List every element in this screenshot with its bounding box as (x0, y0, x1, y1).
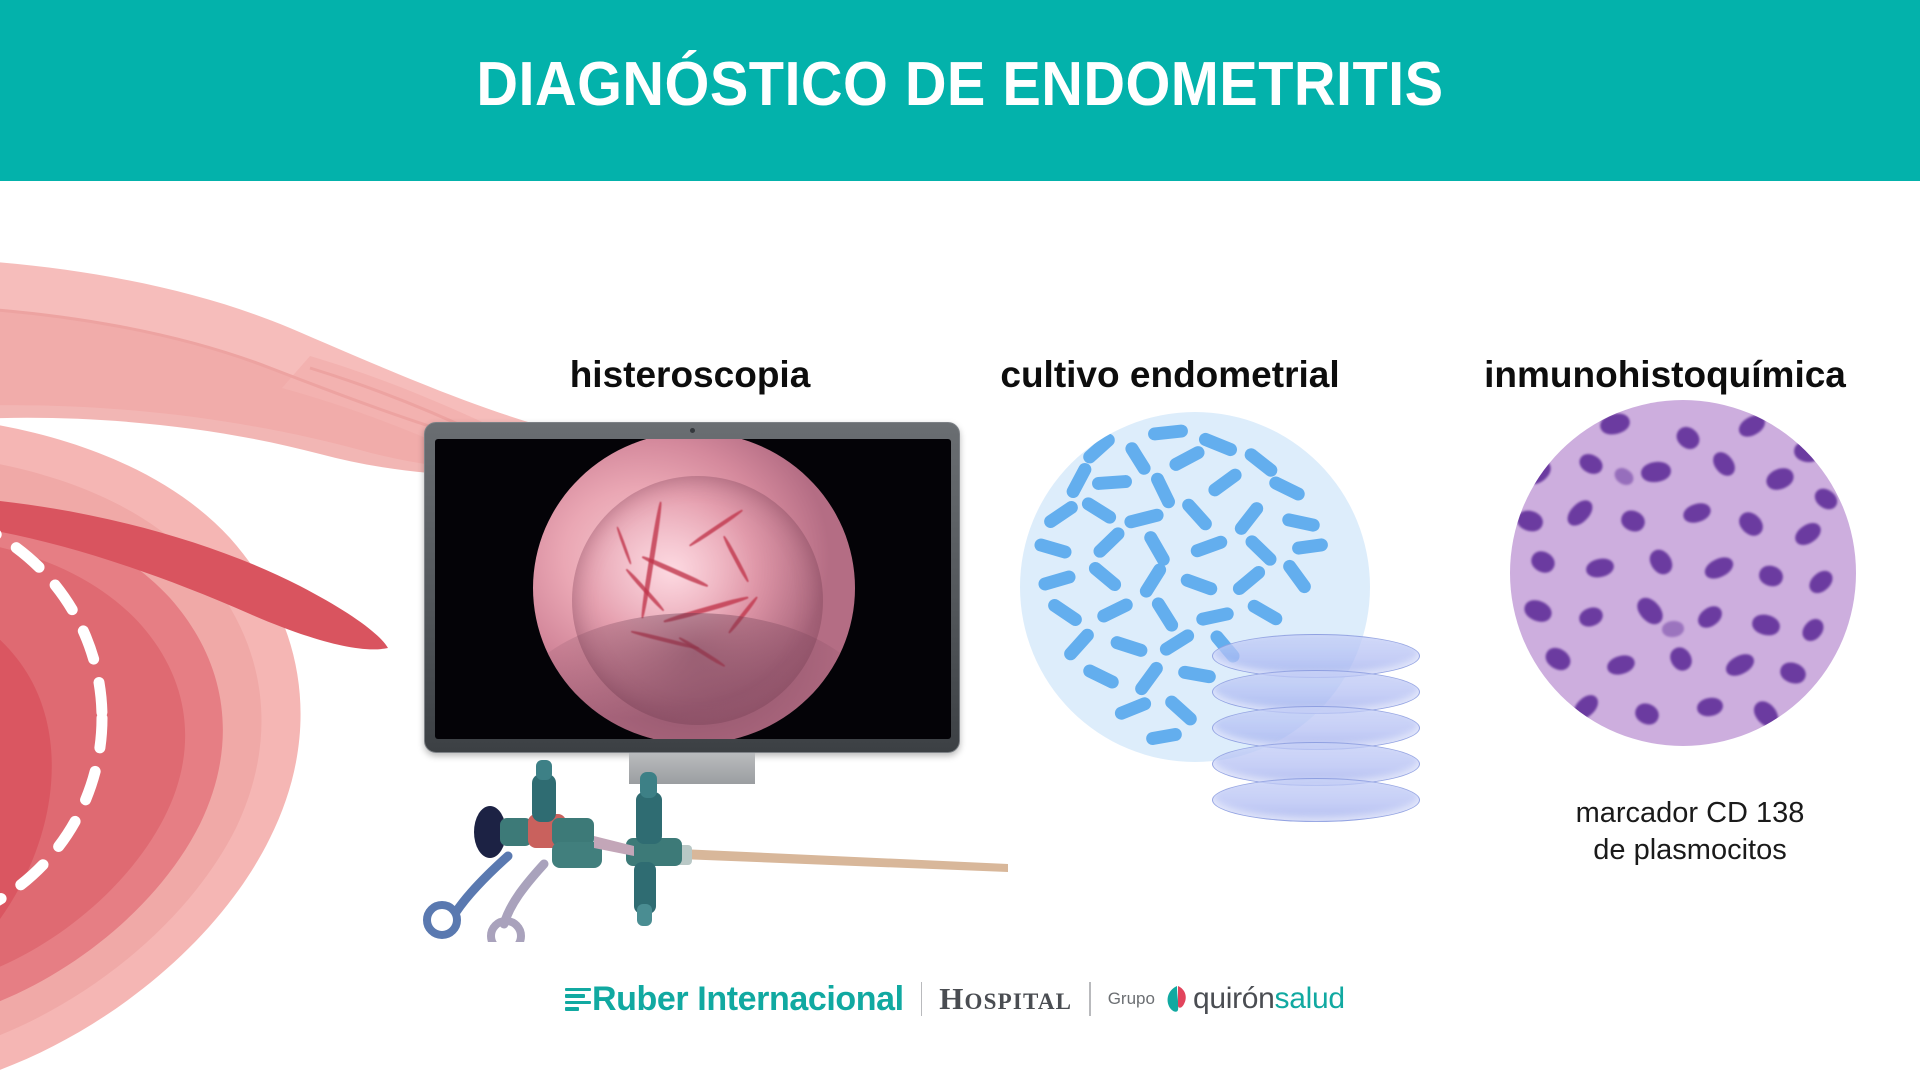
body-segment-lower (552, 842, 602, 868)
ihc-caption-line-2: de plasmocitos (1500, 832, 1880, 869)
light-post-base (528, 814, 566, 848)
monitor-bezel (424, 422, 960, 753)
handle-arm-upper (456, 856, 508, 912)
salud-part: salud (1275, 982, 1345, 1015)
monitor-screen (435, 439, 951, 739)
lower-port-tip (637, 904, 652, 926)
ihc-caption: marcador CD 138 de plasmocitos (1500, 795, 1880, 869)
slide-canvas: DIAGNÓSTICO DE ENDOMETRITIS his (0, 0, 1920, 1080)
petri-dish-stack (1212, 634, 1420, 830)
endoscopic-uterine-cavity-view (533, 439, 855, 739)
hospital-initial: H (939, 981, 964, 1016)
hysteroscopy-monitor (424, 422, 960, 762)
eyepiece-collar (500, 818, 532, 846)
grupo-label: Grupo (1108, 989, 1155, 1009)
uterus-wall-outer (0, 412, 301, 1080)
finger-ring-2 (491, 921, 521, 942)
histology-micrograph-circle (1510, 400, 1856, 746)
column-label-inmunohistoquimica: inmunohistoquímica (1420, 352, 1910, 397)
myometrium (0, 495, 223, 1012)
ruber-bars-icon (565, 988, 591, 1011)
monitor-stand (629, 753, 755, 784)
scope-shaft (680, 849, 1008, 872)
endometrial-culture-illustration (1020, 412, 1420, 830)
endometrial-cavity-highlight-dashed-circle (0, 506, 102, 930)
logo-divider-2 (1089, 982, 1091, 1016)
column-label-histeroscopia: histeroscopia (480, 352, 900, 397)
petri-dish (1212, 778, 1420, 822)
hospital-text: HOSPITAL (939, 981, 1072, 1017)
upper-port (636, 792, 662, 844)
page-title: DIAGNÓSTICO DE ENDOMETRITIS (67, 48, 1853, 122)
uterus-wall-mid (0, 451, 262, 1046)
eyepiece (474, 806, 506, 858)
hospital-rest: OSPITAL (965, 989, 1073, 1014)
quironsalud-text: quirónsalud (1193, 982, 1345, 1016)
body-segment (552, 818, 594, 846)
quiron-part: quirón (1193, 982, 1275, 1015)
shaft-collar (674, 845, 692, 865)
footer-logo-bar: Ruber Internacional HOSPITAL Grupo quiró… (565, 972, 1345, 1026)
logo-divider-1 (921, 982, 923, 1016)
endometrial-cavity (0, 534, 185, 978)
middle-valve-body (626, 838, 682, 866)
ruber-internacional-logo: Ruber Internacional (565, 980, 904, 1019)
column-label-cultivo-endometrial: cultivo endometrial (935, 352, 1405, 397)
light-post-tip (536, 760, 552, 780)
light-post (532, 774, 556, 822)
cavity-deep (0, 577, 52, 1028)
lower-port (634, 862, 656, 914)
ihc-caption-line-1: marcador CD 138 (1500, 795, 1880, 832)
handle-arm-lower (504, 864, 544, 924)
connector-bridge (594, 836, 634, 856)
cervical-canal (0, 498, 388, 649)
finger-ring-1 (427, 905, 457, 935)
camera-dot-icon (690, 428, 695, 433)
immunohistochemistry-illustration (1510, 400, 1870, 760)
quironsalud-leaf-icon (1164, 984, 1190, 1014)
ruber-internacional-text: Ruber Internacional (592, 980, 904, 1019)
